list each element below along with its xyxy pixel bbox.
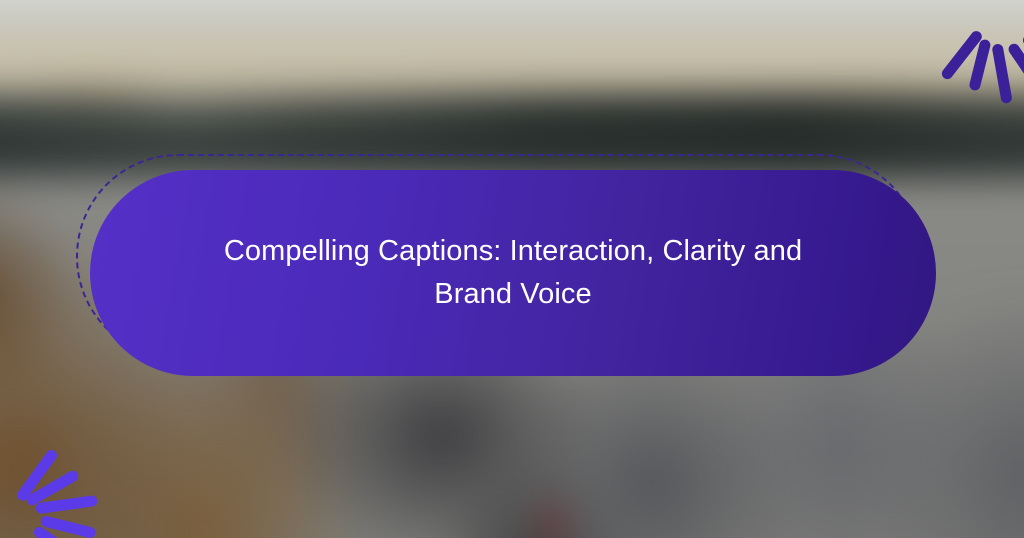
page-title-line-2: Brand Voice bbox=[163, 273, 863, 316]
title-card: Compelling Captions: Interaction, Clarit… bbox=[90, 170, 936, 376]
page-title: Compelling Captions: Interaction, Clarit… bbox=[163, 230, 863, 316]
page-title-line-1: Compelling Captions: Interaction, Clarit… bbox=[163, 230, 863, 273]
banner-stage: Compelling Captions: Interaction, Clarit… bbox=[0, 0, 1024, 538]
